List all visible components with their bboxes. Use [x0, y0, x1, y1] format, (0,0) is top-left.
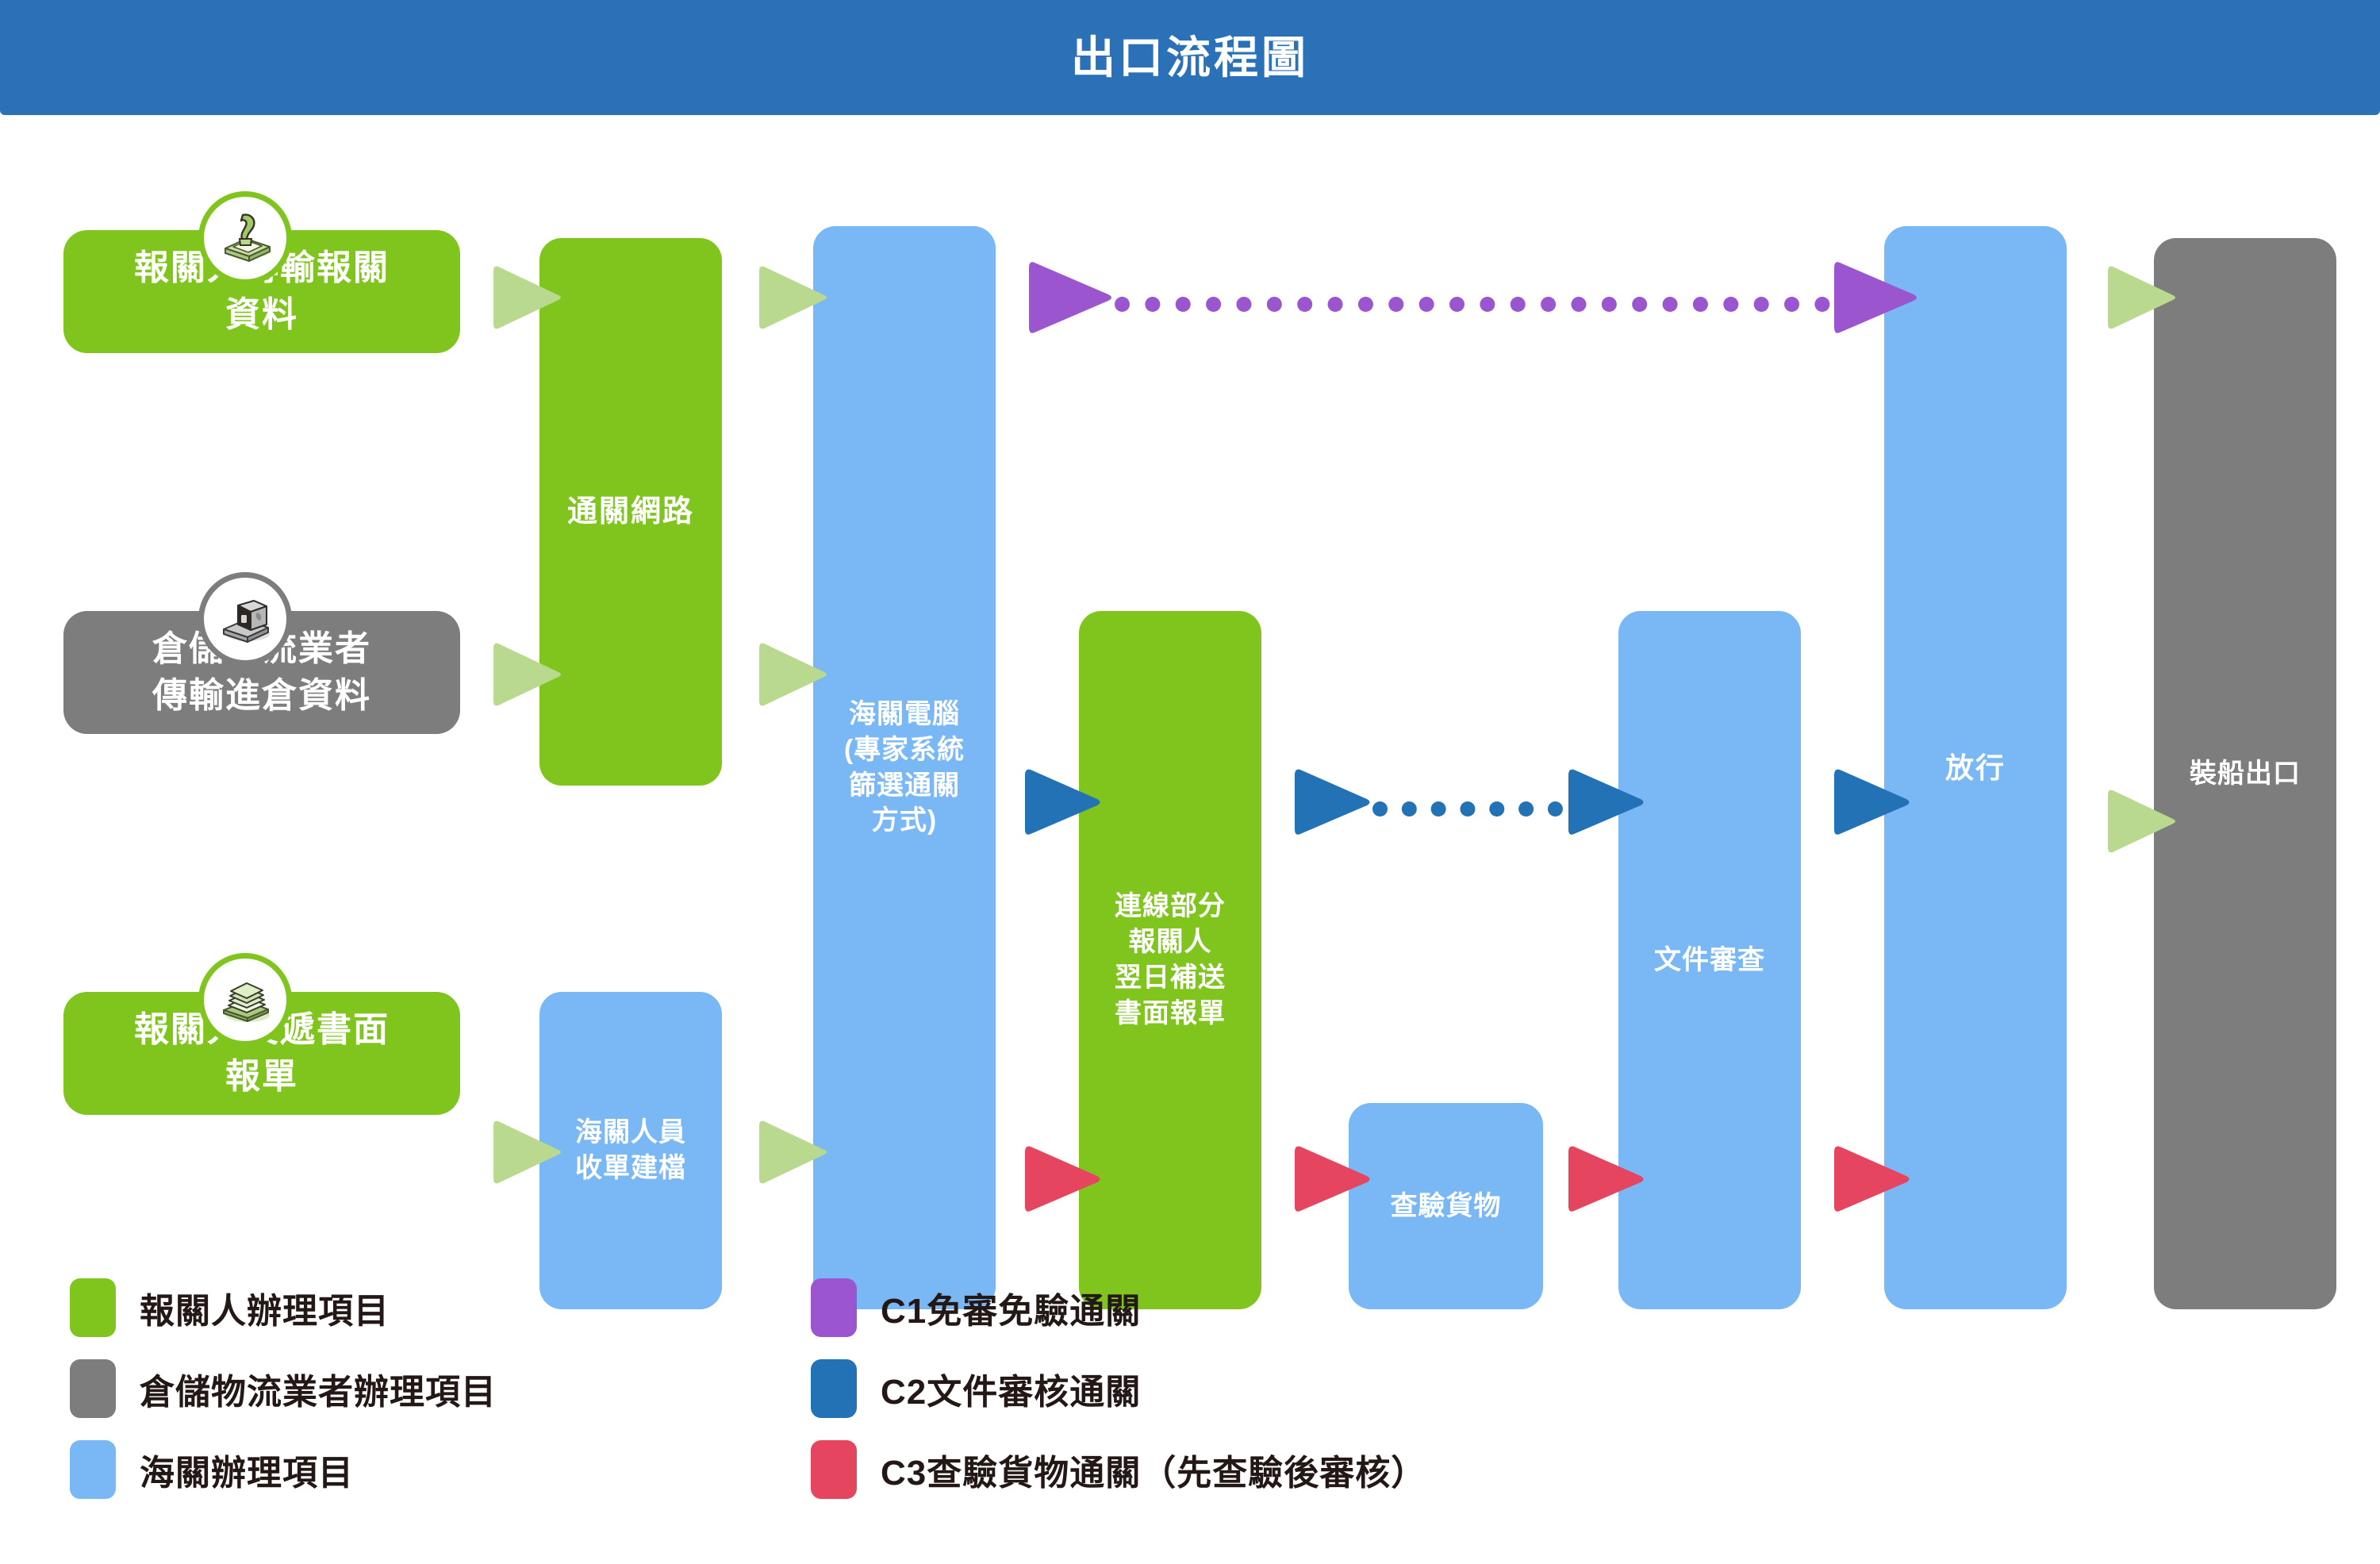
legend-label-warehouse-items: 倉儲物流業者辦理項目 — [140, 1363, 497, 1414]
legend-swatch-darkblue — [811, 1359, 857, 1418]
legend-swatch-purple — [811, 1278, 857, 1337]
node-document-review-label: 文件審查 — [1646, 943, 1773, 978]
legend-label-c1-clearance: C1免審免驗通關 — [881, 1282, 1141, 1333]
play-arrow-icon — [1023, 766, 1103, 839]
node-customs-staff-intake-label: 海關人員 收單建檔 — [567, 1115, 694, 1186]
connector-c2-dotted — [1372, 801, 1563, 817]
package-box-icon — [214, 588, 276, 650]
node-ship-export[interactable]: 裝船出口 — [2154, 238, 2336, 1309]
play-arrow-icon — [1293, 1143, 1372, 1216]
node-online-next-day[interactable]: 連線部分 報關人 翌日補送 書面報單 — [1079, 611, 1261, 1309]
node-customs-computer[interactable]: 海關電腦 (專家系統 篩選通關 方式) — [813, 226, 996, 1309]
node-inspect-goods-label: 查驗貨物 — [1383, 1189, 1510, 1224]
node-release-label: 放行 — [1937, 749, 2013, 787]
page-header: 出口流程圖 — [0, 0, 2380, 115]
legend-swatch-gray — [70, 1359, 116, 1418]
legend-column-roles: 報關人辦理項目 倉儲物流業者辦理項目 海關辦理項目 — [70, 1274, 497, 1516]
stamp-icon — [214, 207, 276, 269]
legend-item-c3-clearance: C3查驗貨物通關（先查驗後審核） — [811, 1435, 1426, 1504]
play-arrow-icon — [1293, 766, 1372, 839]
legend-label-c2-clearance: C2文件審核通關 — [881, 1363, 1141, 1414]
play-arrow-icon — [758, 262, 829, 333]
play-arrow-icon — [1567, 766, 1646, 839]
node-customs-network[interactable]: 通關網路 — [539, 238, 722, 786]
legend-swatch-green — [70, 1278, 116, 1337]
legend-label-c3-clearance: C3查驗貨物通關（先查驗後審核） — [881, 1444, 1426, 1495]
node-online-next-day-label: 連線部分 報關人 翌日補送 書面報單 — [1107, 889, 1234, 1032]
legend-swatch-red — [811, 1440, 857, 1499]
play-arrow-icon — [758, 639, 829, 710]
play-arrow-icon — [2106, 262, 2178, 333]
stamp-icon-badge — [198, 191, 292, 285]
legend-item-warehouse-items: 倉儲物流業者辦理項目 — [70, 1355, 497, 1423]
play-arrow-icon — [1833, 766, 1912, 839]
document-stack-icon-badge — [198, 953, 292, 1047]
node-customs-computer-label: 海關電腦 (專家系統 篩選通關 方式) — [836, 697, 973, 840]
package-box-icon-badge — [198, 572, 292, 666]
connector-c1-dotted — [1115, 297, 1860, 312]
legend-item-declarant-items: 報關人辦理項目 — [70, 1274, 497, 1342]
legend-item-customs-items: 海關辦理項目 — [70, 1435, 497, 1504]
node-customs-network-label: 通關網路 — [559, 492, 702, 532]
node-ship-export-label: 裝船出口 — [2182, 756, 2309, 792]
play-arrow-icon — [1023, 1143, 1103, 1216]
legend-item-c1-clearance: C1免審免驗通關 — [811, 1274, 1426, 1342]
play-arrow-icon — [492, 1116, 563, 1188]
play-arrow-icon — [492, 262, 563, 333]
play-arrow-icon — [1833, 258, 1920, 337]
play-arrow-icon — [492, 639, 563, 710]
node-customs-staff-intake[interactable]: 海關人員 收單建檔 — [539, 992, 722, 1309]
legend-label-declarant-items: 報關人辦理項目 — [140, 1282, 390, 1333]
legend-swatch-blue — [70, 1440, 116, 1499]
legend-item-c2-clearance: C2文件審核通關 — [811, 1355, 1426, 1423]
legend-label-customs-items: 海關辦理項目 — [140, 1444, 354, 1495]
document-stack-icon — [214, 969, 276, 1031]
legend-column-clearance: C1免審免驗通關 C2文件審核通關 C3查驗貨物通關（先查驗後審核） — [811, 1274, 1426, 1516]
play-arrow-icon — [1833, 1143, 1912, 1216]
page-title: 出口流程圖 — [1071, 36, 1309, 80]
legend: 報關人辦理項目 倉儲物流業者辦理項目 海關辦理項目 C1免審免驗通關 C2文件審… — [0, 1274, 2380, 1559]
play-arrow-icon — [758, 1116, 829, 1188]
play-arrow-icon — [1027, 258, 1115, 337]
play-arrow-icon — [1567, 1143, 1646, 1216]
play-arrow-icon — [2106, 786, 2178, 857]
